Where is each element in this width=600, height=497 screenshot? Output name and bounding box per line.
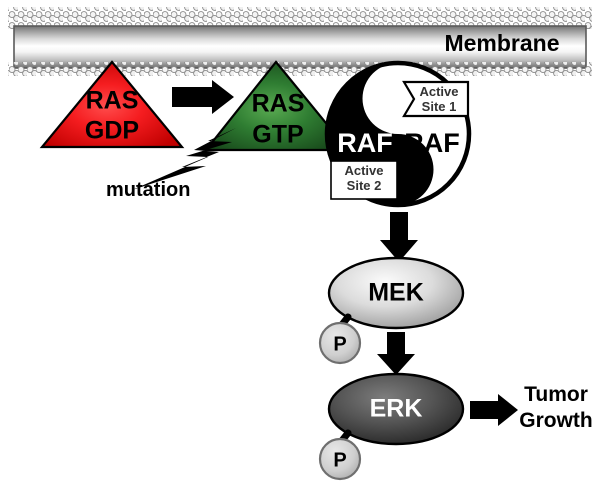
active-site-2-callout: Active Site 2 [331,161,397,199]
mek-to-erk-arrow [377,332,415,375]
mutation-label: mutation [106,179,190,201]
tumor-growth-line2: Growth [519,409,593,432]
active-site-1-callout: Active Site 1 [404,82,468,116]
raf-right-label: RAF [404,128,460,158]
erk-node[interactable]: ERK P [320,374,463,479]
ras-gdp-label-line2: GDP [85,117,139,145]
erk-label: ERK [370,395,423,423]
ras-activation-arrow [172,80,234,114]
pathway-diagram: Membrane RAS GDP RAS GTP mutation [0,0,600,497]
active-site-1-line2: Site 1 [422,99,457,114]
membrane-bottom-lipid-heads [8,62,592,76]
active-site-2-line2: Site 2 [347,178,382,193]
membrane-label: Membrane [444,30,559,56]
ras-gtp-label-line1: RAS [252,90,305,118]
ras-gtp-label-line2: GTP [252,121,303,149]
raf-to-mek-arrow [380,212,418,262]
tumor-growth-outcome: Tumor Growth [519,383,593,432]
ras-gdp-label-line1: RAS [86,87,139,115]
active-site-2-line1: Active [344,163,383,178]
active-site-1-line1: Active [419,84,458,99]
erk-phosphate-label: P [333,449,346,471]
mek-label: MEK [368,279,424,307]
raf-dimer[interactable]: RAF RAF Active Site 1 Active Site 2 [327,63,469,205]
erk-to-tumor-arrow [470,394,518,426]
raf-left-label: RAF [337,128,393,158]
mek-phosphate-label: P [333,333,346,355]
tumor-growth-line1: Tumor [524,383,588,406]
diagram-canvas: Membrane RAS GDP RAS GTP mutation [0,0,600,497]
membrane: Membrane [8,7,592,76]
